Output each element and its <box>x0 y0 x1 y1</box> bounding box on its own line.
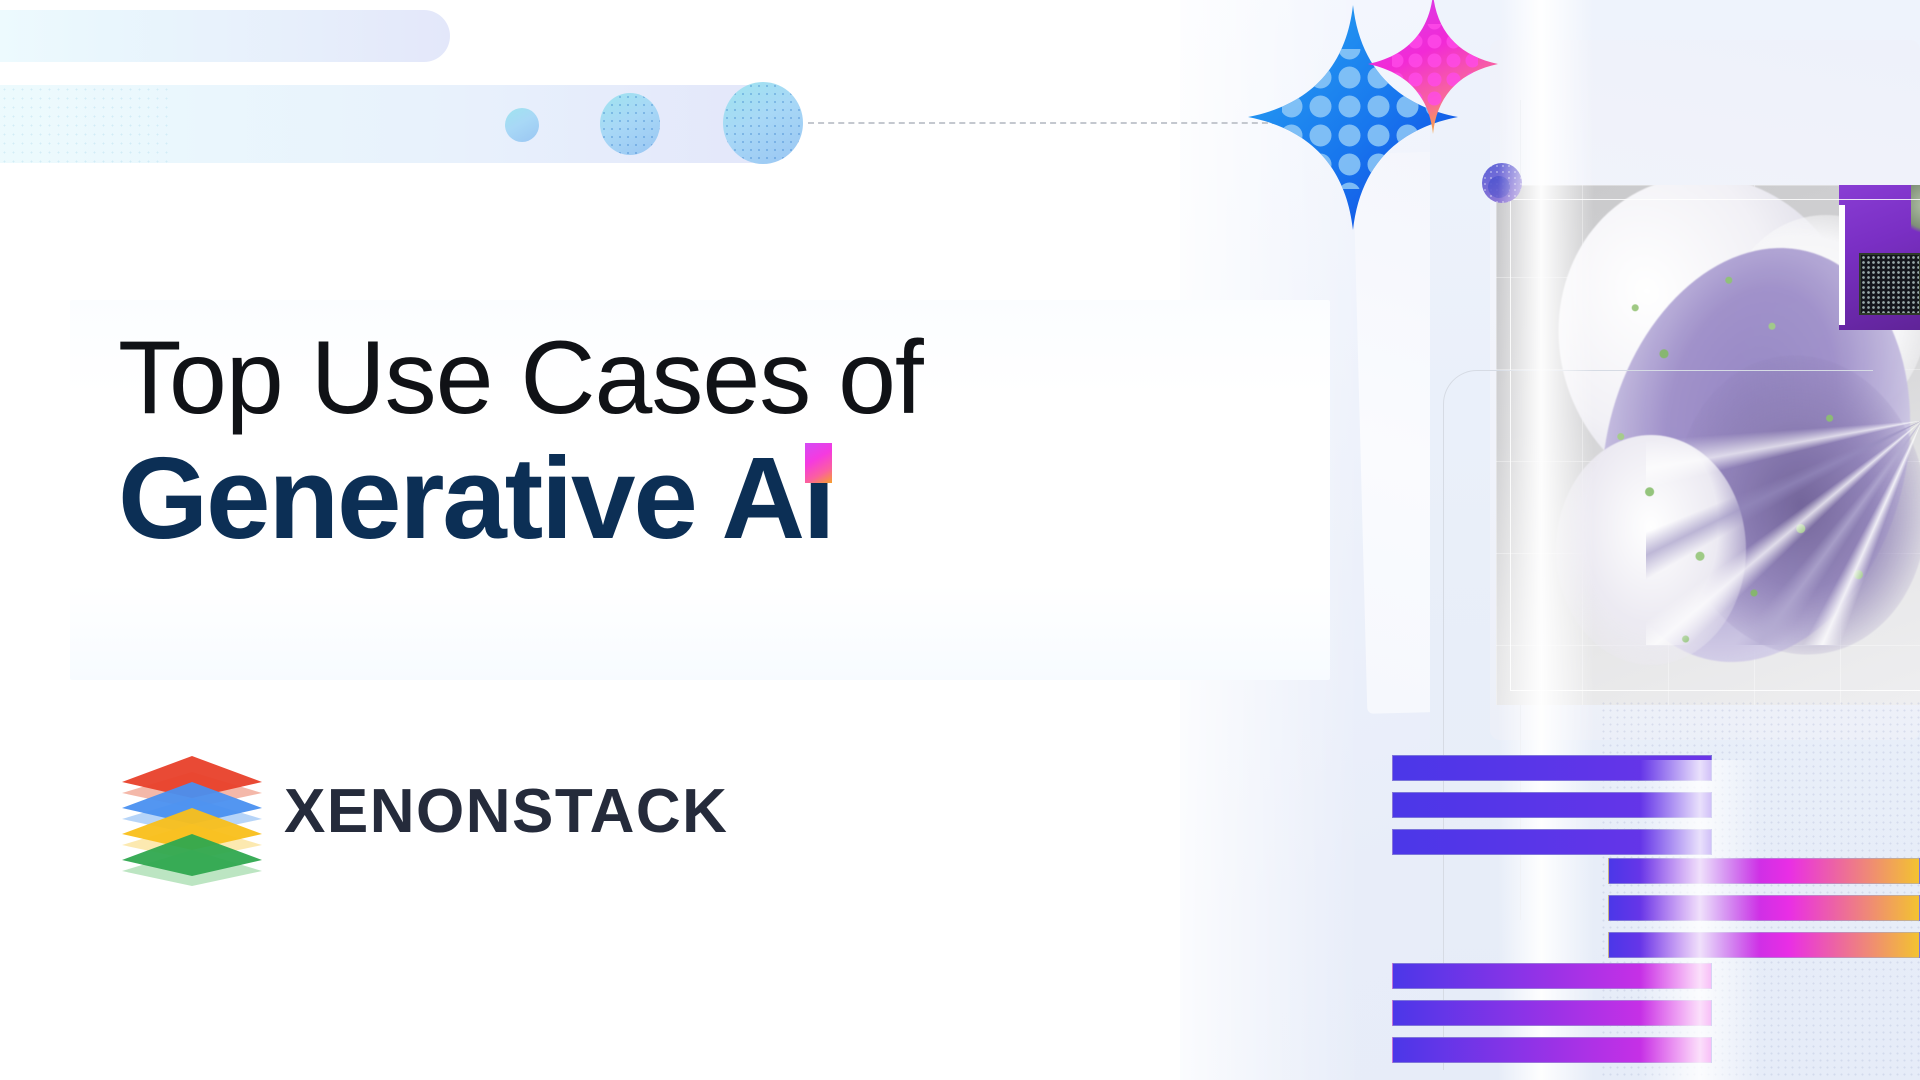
xenonstack-stack-icon <box>122 752 262 870</box>
dashed-connector-line <box>808 122 1278 124</box>
ai-accent-block <box>805 443 832 483</box>
decor-circle-large-dots <box>723 82 803 164</box>
decor-pill-dot-texture <box>0 85 170 163</box>
title-line-1: Top Use Cases of <box>118 322 1328 434</box>
layer-green <box>122 830 262 886</box>
page-title: Top Use Cases of Generative AI <box>118 322 1328 564</box>
decor-pill-top <box>0 10 450 62</box>
sparkle-pink-icon <box>1368 0 1498 134</box>
decor-circle-small <box>505 108 539 142</box>
banner-canvas: Top Use Cases of Generative AI XENONSTAC… <box>0 0 1920 1080</box>
title-line-2: Generative AI <box>118 434 833 564</box>
brand-wordmark: XENONSTACK <box>284 776 728 847</box>
white-column-highlight-2 <box>1640 760 1760 1080</box>
title-line-2-text: Generative AI <box>118 433 833 563</box>
white-column-highlight <box>1498 0 1594 1080</box>
decor-circle-medium-dots <box>600 93 660 155</box>
brand-logo[interactable]: XENONSTACK <box>122 752 728 870</box>
